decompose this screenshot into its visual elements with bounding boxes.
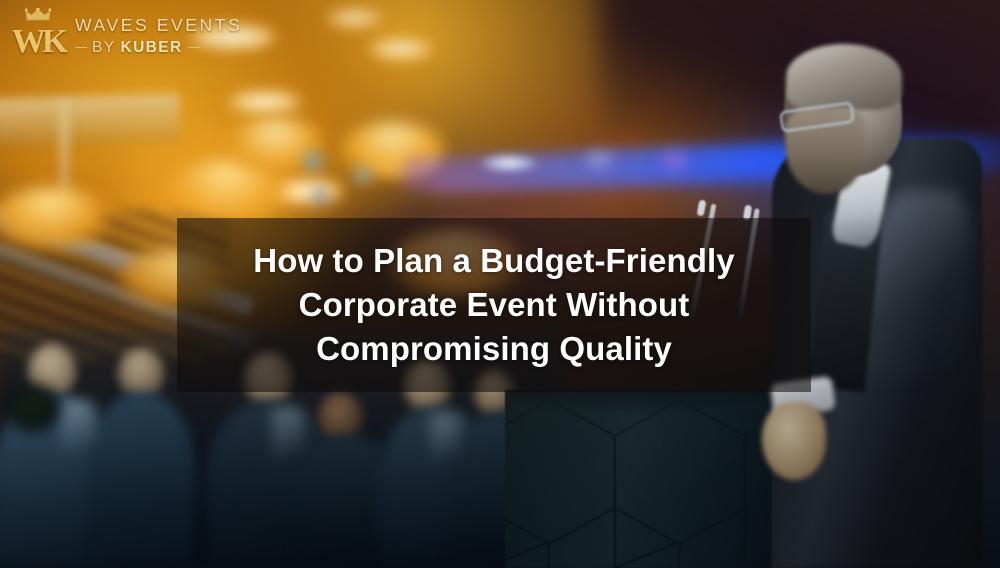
ceiling-light-bokeh	[369, 38, 433, 60]
pendant-lamp	[0, 188, 110, 248]
audience-shoulder	[86, 392, 196, 568]
logo-line-1: WAVES EVENTS	[75, 17, 242, 35]
accent-bokeh	[352, 164, 374, 186]
speaker-hair	[786, 44, 902, 110]
podium-cube-pattern	[505, 390, 773, 568]
balcony-railing	[0, 94, 181, 149]
blue-spot-bokeh	[582, 150, 616, 168]
hero-banner: WK WAVES EVENTS BY KUBER How to Plan a B…	[0, 0, 1000, 568]
logo-line-2: BY KUBER	[75, 40, 242, 56]
audience-collar-highlight	[60, 400, 96, 470]
accent-bokeh	[300, 148, 326, 174]
podium-top-edge	[505, 390, 773, 410]
ceiling-light-bokeh	[228, 90, 302, 114]
logo-rule-right	[188, 47, 200, 49]
page-title: How to Plan a Budget-Friendly Corporate …	[177, 239, 811, 371]
logo-monogram-mark: WK	[10, 8, 66, 64]
blue-light-hotspot	[480, 154, 538, 172]
brand-logo[interactable]: WK WAVES EVENTS BY KUBER	[10, 8, 242, 64]
logo-line-2-prefix: BY	[92, 40, 115, 56]
logo-line-2-strong: KUBER	[120, 40, 182, 56]
logo-rule-left	[75, 47, 87, 49]
page-title-line: How to Plan a Budget-Friendly	[253, 242, 734, 279]
audience-head	[118, 348, 164, 398]
audience-collar-highlight	[272, 408, 304, 474]
title-overlay-panel: How to Plan a Budget-Friendly Corporate …	[177, 218, 811, 392]
accent-bokeh	[310, 186, 330, 206]
ceiling-light-bokeh	[326, 8, 384, 28]
page-title-line: Compromising Quality	[316, 330, 672, 367]
accent-bokeh	[660, 146, 690, 176]
page-title-line: Corporate Event Without	[299, 286, 690, 323]
logo-wordmark: WAVES EVENTS BY KUBER	[75, 17, 242, 55]
speaker-hand	[762, 402, 826, 480]
camera-lens	[6, 384, 60, 432]
logo-monogram-letters: WK	[10, 19, 66, 64]
podium	[505, 390, 773, 568]
audience-collar-highlight	[430, 414, 460, 476]
